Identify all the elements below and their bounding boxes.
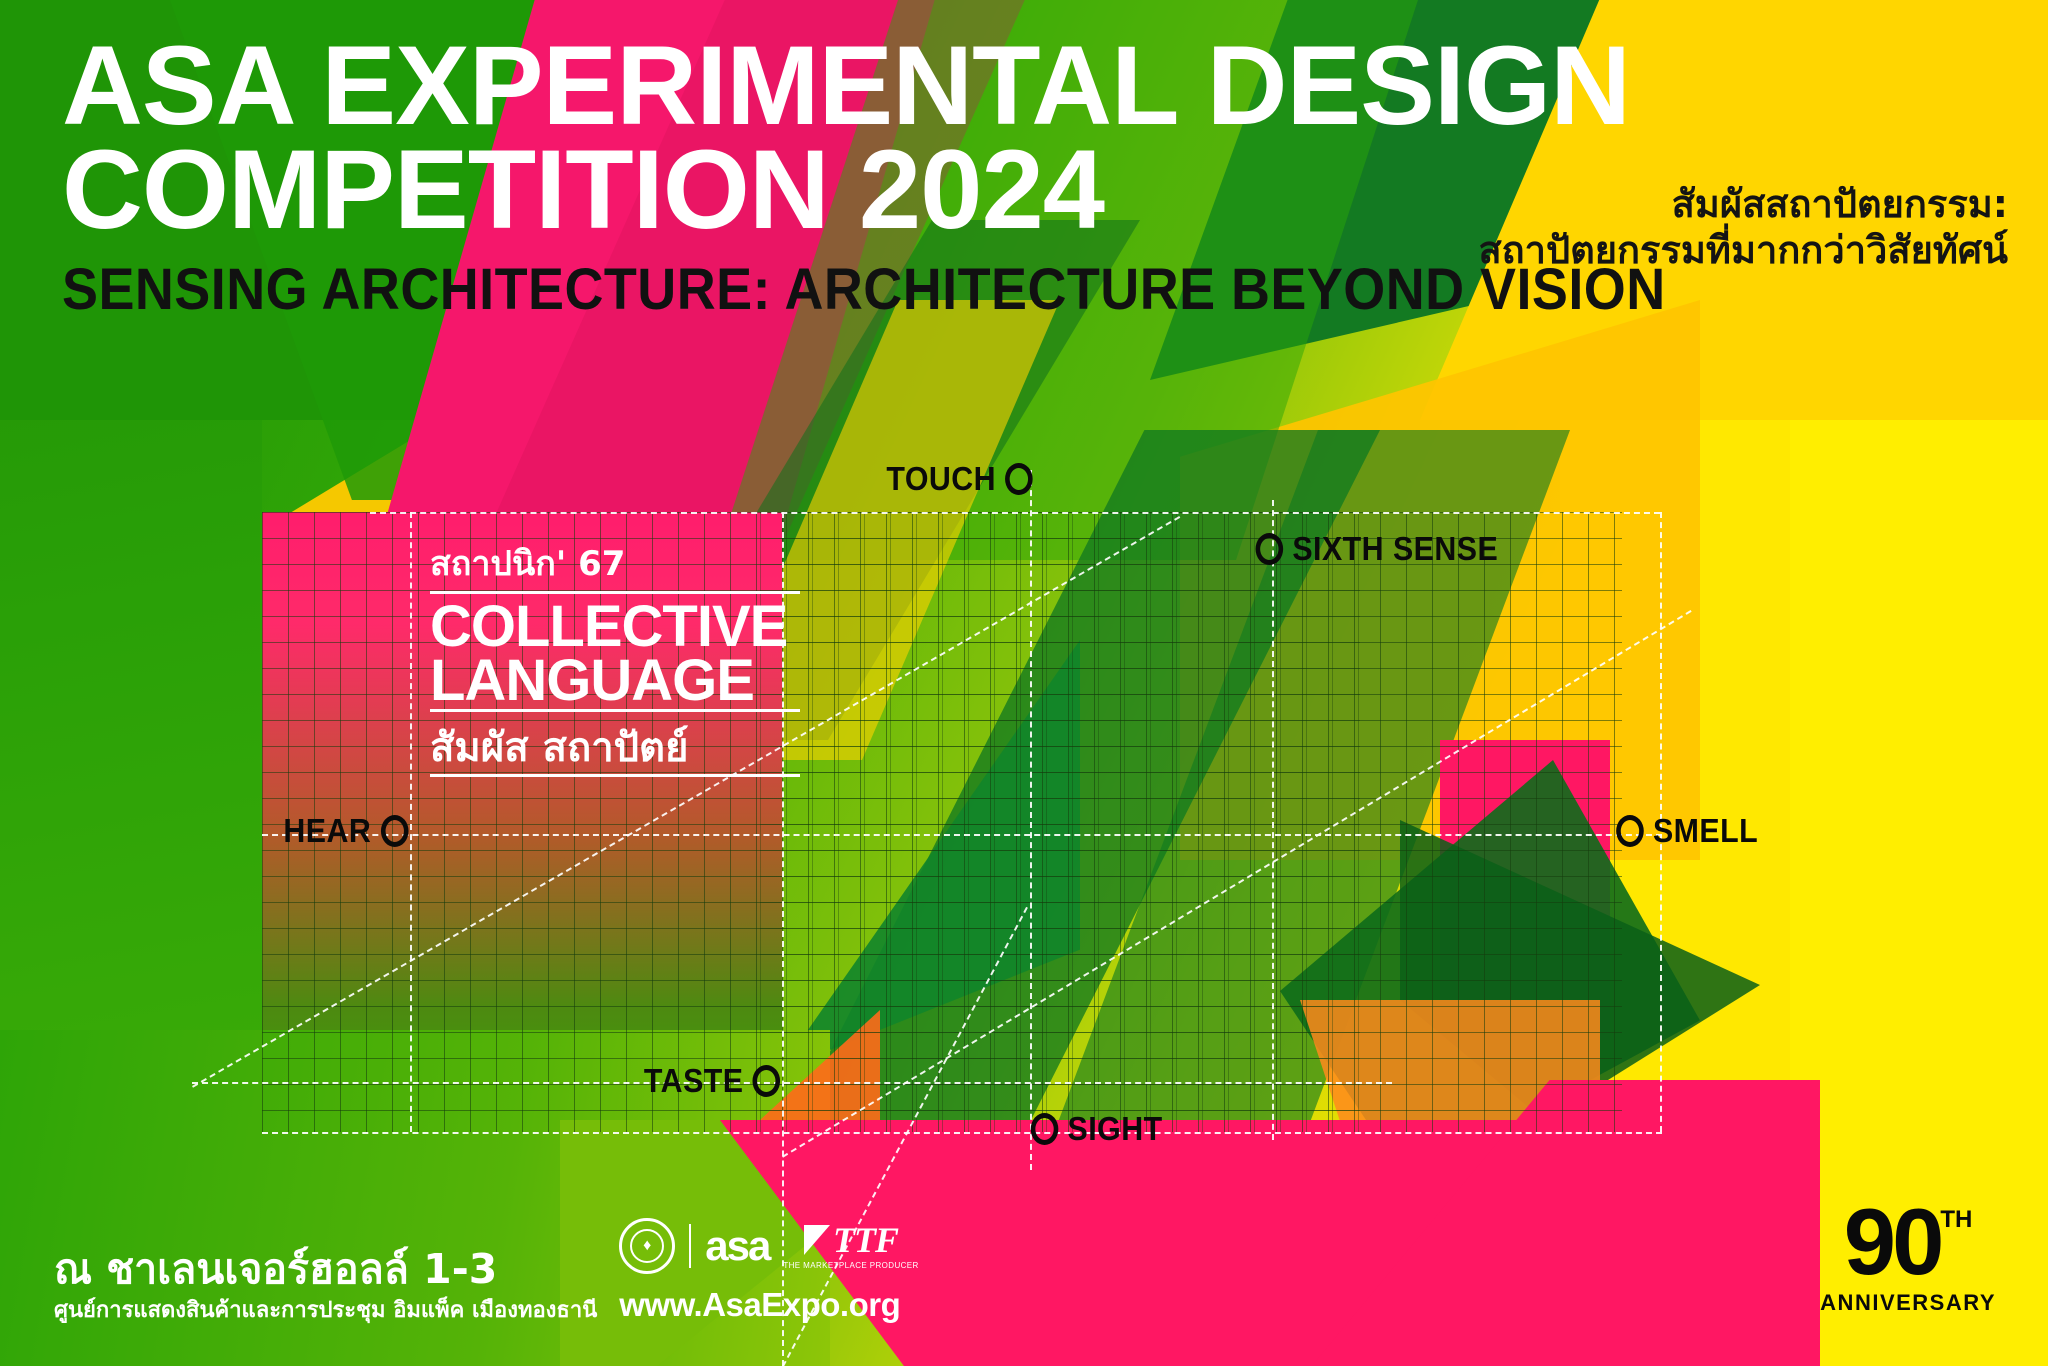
circle-marker-icon	[1616, 815, 1644, 847]
sense-smell: SMELL	[1616, 812, 1758, 850]
sense-smell-label: SMELL	[1653, 812, 1758, 850]
circle-marker-icon	[380, 815, 408, 847]
anniversary-ordinal: TH	[1940, 1208, 1972, 1232]
thai-heading-line-2: สถาปัตยกรรมที่มากกว่าวิสัยทัศน์	[1478, 228, 2008, 274]
logo-row: ♦ asa TTF THE MARKETPLACE PRODUCER	[619, 1216, 918, 1276]
circle-marker-icon	[1031, 1113, 1059, 1145]
website-url[interactable]: www.AsaExpo.org	[619, 1286, 900, 1324]
logo-and-url-block: ♦ asa TTF THE MARKETPLACE PRODUCER www.A…	[619, 1216, 918, 1324]
circle-marker-icon	[753, 1065, 781, 1097]
sense-touch-label: TOUCH	[886, 460, 996, 498]
anniversary-word: ANNIVERSARY	[1820, 1290, 1996, 1316]
sense-sixth-sense: SIXTH SENSE	[1256, 530, 1499, 568]
ttf-logo: TTF THE MARKETPLACE PRODUCER	[783, 1222, 918, 1270]
ttf-triangle-icon	[804, 1225, 830, 1255]
collective-thai-tagline: สัมผัส สถาปัตย์	[430, 718, 800, 772]
sense-sight: SIGHT	[1031, 1110, 1163, 1148]
collective-language-block: สถาปนิก' 67 COLLECTIVE LANGUAGE สัมผัส ส…	[430, 546, 800, 783]
title-line-1: ASA EXPERIMENTAL DESIGN	[62, 34, 1962, 138]
anniversary-badge: 90 TH ANNIVERSARY	[1820, 1202, 1996, 1316]
ttf-tagline: THE MARKETPLACE PRODUCER	[783, 1261, 918, 1270]
sense-hear-label: HEAR	[283, 812, 371, 850]
collective-thai-year: สถาปนิก' 67	[430, 546, 800, 589]
collective-en-line-2: LANGUAGE	[430, 654, 800, 707]
collective-en-line-1: COLLECTIVE	[430, 600, 800, 653]
venue-name: ณ ชาเลนเจอร์ฮอลล์ 1-3	[54, 1247, 597, 1292]
thai-heading: สัมผัสสถาปัตยกรรม: สถาปัตยกรรมที่มากกว่า…	[1478, 182, 2008, 273]
sense-taste: TASTE	[644, 1062, 780, 1100]
circle-marker-icon	[1256, 533, 1284, 565]
venue-block: ณ ชาเลนเจอร์ฮอลล์ 1-3 ศูนย์การแสดงสินค้า…	[54, 1247, 597, 1324]
asa-seal-icon: ♦	[619, 1218, 675, 1274]
thai-heading-line-1: สัมผัสสถาปัตยกรรม:	[1478, 182, 2008, 228]
ttf-logo-row: TTF	[804, 1222, 898, 1258]
sense-touch: TOUCH	[886, 460, 1032, 498]
asa-seal-inner-icon: ♦	[630, 1229, 664, 1263]
sense-taste-label: TASTE	[644, 1062, 744, 1100]
logo-divider	[689, 1224, 691, 1268]
venue-address: ศูนย์การแสดงสินค้าและการประชุม อิมแพ็ค เ…	[54, 1298, 597, 1324]
ttf-wordmark: TTF	[833, 1222, 898, 1258]
asa-wordmark: asa	[705, 1225, 769, 1267]
title-block: ASA EXPERIMENTAL DESIGN COMPETITION 2024…	[62, 34, 1962, 323]
anniversary-number: 90	[1844, 1202, 1941, 1282]
sense-sixth-sense-label: SIXTH SENSE	[1292, 530, 1498, 568]
circle-marker-icon	[1005, 463, 1033, 495]
sense-hear: HEAR	[283, 812, 408, 850]
collective-rule-bottom	[430, 774, 800, 777]
poster-canvas: ASA EXPERIMENTAL DESIGN COMPETITION 2024…	[0, 0, 2048, 1366]
sense-sight-label: SIGHT	[1068, 1110, 1163, 1148]
footer: ณ ชาเลนเจอร์ฮอลล์ 1-3 ศูนย์การแสดงสินค้า…	[54, 1216, 919, 1324]
anniversary-number-row: 90 TH	[1820, 1202, 1996, 1282]
